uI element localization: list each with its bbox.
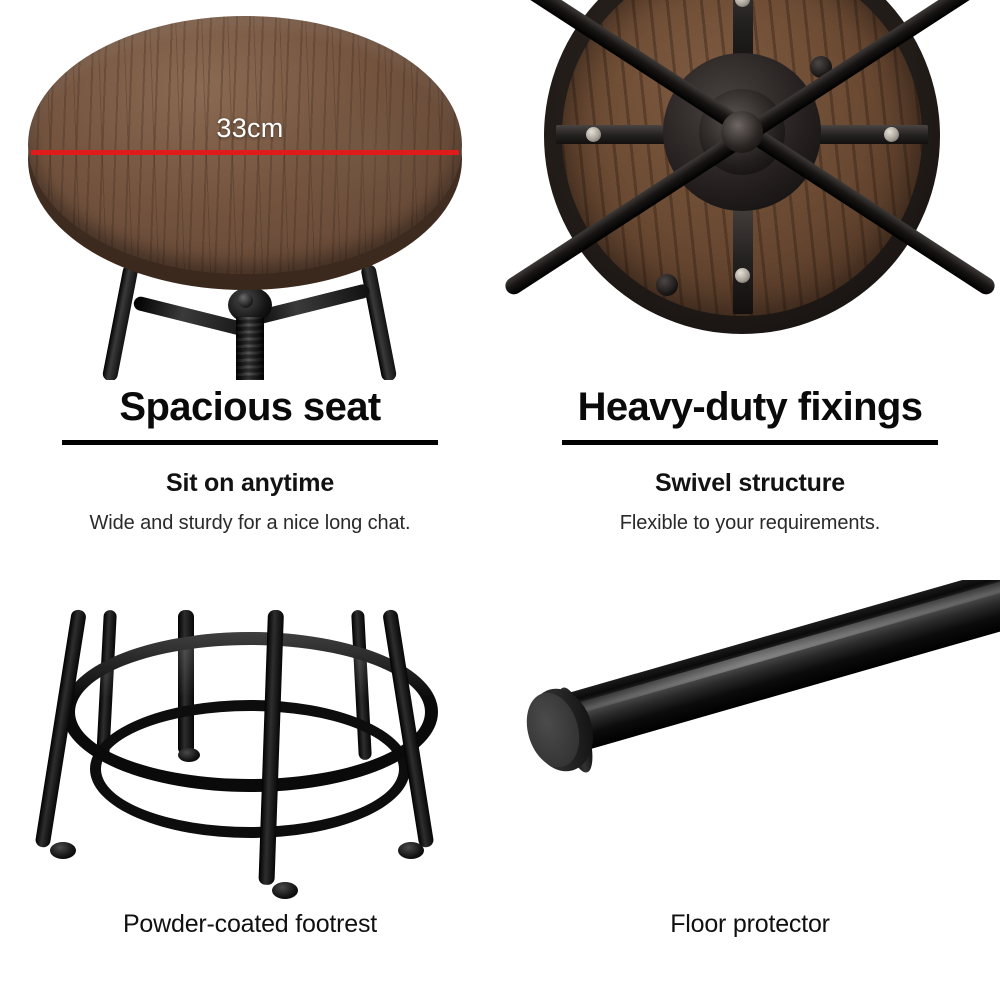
floor-protector-photo bbox=[500, 580, 1000, 920]
seat-heading-rule bbox=[62, 440, 438, 445]
fixings-underside-photo bbox=[500, 0, 1000, 380]
floor-protector-caption: Floor protector bbox=[500, 910, 1000, 939]
footrest-foot-right bbox=[398, 842, 424, 859]
footrest-ring-highlight bbox=[62, 632, 438, 792]
fixings-description: Flexible to your requirements. bbox=[500, 512, 1000, 535]
footrest-foot-center bbox=[272, 882, 298, 899]
mounting-bracket-bottom bbox=[733, 196, 753, 314]
feature-panel-footrest: Powder-coated footrest bbox=[0, 580, 500, 1000]
bracket-screw-right bbox=[884, 127, 899, 142]
seat-wood-surface bbox=[28, 16, 462, 274]
bracket-screw-left bbox=[586, 127, 601, 142]
footrest-foot-left bbox=[50, 842, 76, 859]
fixings-heading-rule bbox=[562, 440, 938, 445]
fixings-subheading: Swivel structure bbox=[500, 469, 1000, 498]
fixings-text-block: Heavy-duty fixings Swivel structure Flex… bbox=[500, 386, 1000, 535]
feature-panel-spacious-seat: 33cm Spacious seat Sit on anytime Wide a… bbox=[0, 0, 500, 580]
stool-leg-left bbox=[102, 264, 139, 380]
feature-infographic: 33cm Spacious seat Sit on anytime Wide a… bbox=[0, 0, 1000, 1000]
fixings-heading: Heavy-duty fixings bbox=[500, 386, 1000, 428]
feature-panel-floor-protector: Floor protector bbox=[500, 580, 1000, 1000]
feature-panel-heavy-duty-fixings: Heavy-duty fixings Swivel structure Flex… bbox=[500, 0, 1000, 580]
measurement-label: 33cm bbox=[0, 113, 500, 144]
swivel-hub-knob bbox=[238, 293, 253, 308]
measurement-line bbox=[31, 150, 459, 155]
seat-subheading: Sit on anytime bbox=[0, 469, 500, 498]
stool-leg-right bbox=[360, 264, 397, 380]
leg-stub-bottom bbox=[656, 274, 678, 296]
footrest-caption: Powder-coated footrest bbox=[0, 910, 500, 939]
bracket-screw-bottom bbox=[735, 268, 750, 283]
seat-description: Wide and sturdy for a nice long chat. bbox=[0, 512, 500, 535]
footrest-photo bbox=[0, 580, 500, 920]
swivel-screw-shading bbox=[236, 317, 264, 380]
seat-text-block: Spacious seat Sit on anytime Wide and st… bbox=[0, 386, 500, 535]
seat-top-photo: 33cm bbox=[0, 0, 500, 380]
seat-heading: Spacious seat bbox=[0, 386, 500, 428]
swivel-hub-core bbox=[721, 111, 763, 153]
